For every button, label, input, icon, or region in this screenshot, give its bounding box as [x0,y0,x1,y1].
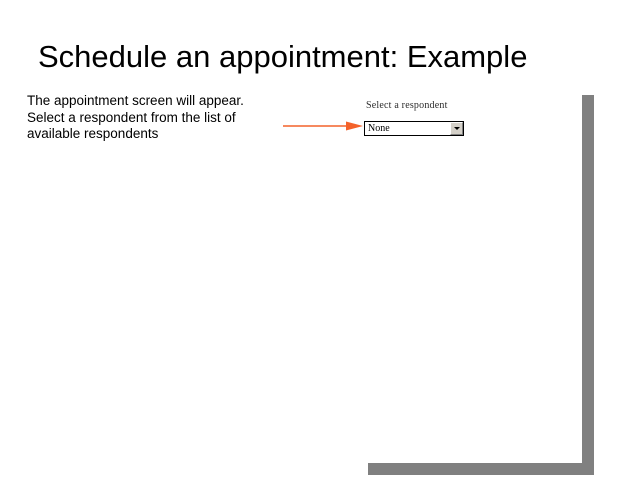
arrow-head [346,122,363,131]
arrow-pointing-right-icon [282,118,366,134]
screenshot-shadow-bottom [368,463,594,475]
slide-canvas: Schedule an appointment: Example The app… [0,0,640,480]
body-text: The appointment screen will appear. Sele… [27,93,257,143]
screenshot-shadow-right [582,95,594,463]
page-title: Schedule an appointment: Example [38,38,608,76]
respondent-dropdown-value: None [365,122,390,135]
caret-glyph [454,127,460,130]
chevron-down-icon[interactable] [450,122,463,135]
respondent-dropdown[interactable]: None [364,121,464,136]
respondent-field-label: Select a respondent [366,100,448,111]
